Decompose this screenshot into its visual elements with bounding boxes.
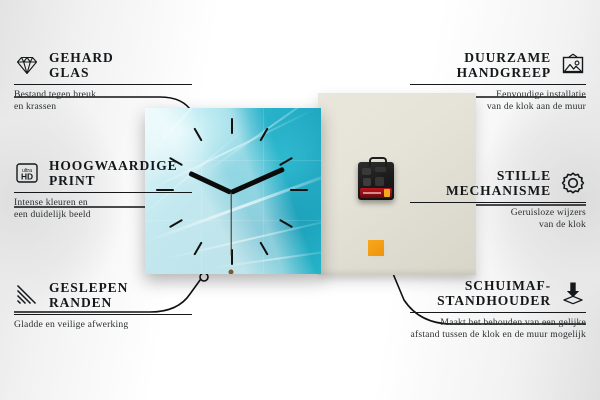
feature-title-line2: MECHANISME: [446, 183, 551, 198]
feature-subtitle: Geruisloze wijzers van de klok: [410, 207, 586, 230]
feature-divider: [410, 202, 586, 203]
feature-subtitle-line2: afstand tussen de klok en de muur mogeli…: [410, 329, 586, 341]
feature-heading: ultra HD HOOGWAARDIGE PRINT: [14, 158, 192, 188]
feature-title-line1: DUURZAME: [457, 50, 551, 65]
foam-spacer-pad: [368, 240, 384, 256]
feature-subtitle: Maakt het behouden van een gelijke afsta…: [410, 317, 586, 340]
feature-subtitle: Bestand tegen breuk en krassen: [14, 89, 192, 112]
feature-subtitle-line1: Gladde en veilige afwerking: [14, 319, 192, 331]
feature-title: GEHARD GLAS: [49, 50, 114, 80]
feature-subtitle-line2: van de klok: [410, 219, 586, 231]
feature-title-line1: HOOGWAARDIGE: [49, 158, 178, 173]
feature-subtitle-line2: van de klok aan de muur: [410, 101, 586, 113]
feature-title-line2: HANDGREEP: [457, 65, 551, 80]
infographic-canvas: GEHARD GLAS Bestand tegen breuk en krass…: [0, 0, 600, 400]
glass-grid-line: [201, 108, 202, 274]
battery-label-stripe: [363, 192, 381, 194]
feature-subtitle: Intense kleuren en een duidelijk beeld: [14, 197, 192, 220]
feature-title-line1: GESLEPEN: [49, 280, 128, 295]
feature-title-line1: GEHARD: [49, 50, 114, 65]
feature-title: HOOGWAARDIGE PRINT: [49, 158, 178, 188]
feature-subtitle-line1: Maakt het behouden van een gelijke: [410, 317, 586, 329]
feature-subtitle: Eenvoudige installatie van de klok aan d…: [410, 89, 586, 112]
feature-title-line2: GLAS: [49, 65, 114, 80]
hour-tick-3: [290, 189, 308, 191]
beveled-edge-icon: [14, 282, 40, 308]
leader-dot-randen: [200, 273, 208, 281]
feature-hoogwaardige-print: ultra HD HOOGWAARDIGE PRINT Intense kleu…: [14, 158, 192, 221]
feature-subtitle-line1: Geruisloze wijzers: [410, 207, 586, 219]
feature-title-line1: SCHUIMAF-: [437, 278, 551, 293]
clock-movement-mechanism: [358, 162, 394, 200]
feature-title-line2: PRINT: [49, 173, 178, 188]
clock-center-pin: [229, 270, 234, 275]
movement-knob: [375, 177, 384, 186]
hour-tick-5: [259, 242, 268, 256]
feature-heading: STILLE MECHANISME: [410, 168, 586, 198]
feature-schuimafstandhouder: SCHUIMAF- STANDHOUDER Maakt het behouden…: [410, 278, 586, 341]
feature-divider: [14, 314, 192, 315]
gear-icon: [560, 170, 586, 196]
feature-title: DUURZAME HANDGREEP: [457, 50, 551, 80]
minute-hand: [230, 167, 285, 195]
down-arrow-pad-icon: [560, 280, 586, 306]
feature-subtitle-line1: Eenvoudige installatie: [410, 89, 586, 101]
feature-divider: [14, 84, 192, 85]
feature-subtitle: Gladde en veilige afwerking: [14, 319, 192, 331]
svg-text:HD: HD: [21, 171, 33, 181]
feature-title: STILLE MECHANISME: [446, 168, 551, 198]
second-hand: [230, 192, 231, 256]
feature-heading: GEHARD GLAS: [14, 50, 192, 80]
feature-subtitle-line2: en krassen: [14, 101, 192, 113]
feature-duurzame-handgreep: DUURZAME HANDGREEP Eenvoudige installati…: [410, 50, 586, 113]
hanger-loop: [369, 157, 387, 167]
hour-tick-12: [231, 118, 233, 134]
feature-title-line2: STANDHOUDER: [437, 293, 551, 308]
feather-streak: [200, 108, 321, 177]
feature-heading: GESLEPEN RANDEN: [14, 280, 192, 310]
battery-positive-terminal: [384, 189, 390, 197]
feature-stille-mechanisme: STILLE MECHANISME Geruisloze wijzers van…: [410, 168, 586, 231]
movement-knob: [363, 178, 371, 186]
feature-subtitle-line2: een duidelijk beeld: [14, 209, 192, 221]
hour-tick-2: [279, 157, 293, 166]
movement-knob: [362, 168, 371, 175]
feature-title-line1: STILLE: [446, 168, 551, 183]
picture-frame-icon: [560, 52, 586, 78]
feature-heading: SCHUIMAF- STANDHOUDER: [410, 278, 586, 308]
feature-title: SCHUIMAF- STANDHOUDER: [437, 278, 551, 308]
feature-heading: DUURZAME HANDGREEP: [410, 50, 586, 80]
aa-battery: [360, 188, 392, 198]
feature-title: GESLEPEN RANDEN: [49, 280, 128, 310]
feature-divider: [410, 84, 586, 85]
feature-subtitle-line1: Intense kleuren en: [14, 197, 192, 209]
feature-title-line2: RANDEN: [49, 295, 128, 310]
diamond-icon: [14, 52, 40, 78]
hour-hand: [188, 171, 232, 195]
feature-subtitle-line1: Bestand tegen breuk: [14, 89, 192, 101]
movement-knob: [375, 167, 386, 172]
feature-geslepen-randen: GESLEPEN RANDEN Gladde en veilige afwerk…: [14, 280, 192, 331]
feature-divider: [410, 312, 586, 313]
feature-divider: [14, 192, 192, 193]
ultra-hd-icon: ultra HD: [14, 160, 40, 186]
feature-gehard-glas: GEHARD GLAS Bestand tegen breuk en krass…: [14, 50, 192, 113]
